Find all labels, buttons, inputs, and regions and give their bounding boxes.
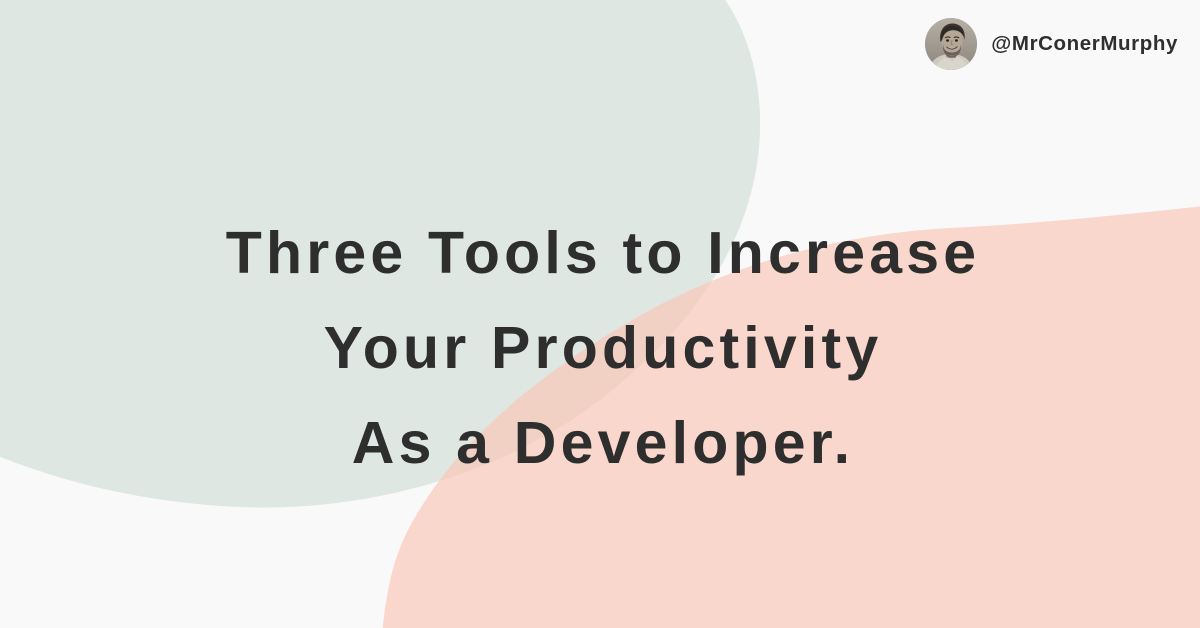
title-line-1: Three Tools to Increase	[6, 206, 1200, 301]
author-badge: @MrConerMurphy	[925, 18, 1178, 70]
page-title: Three Tools to Increase Your Productivit…	[0, 206, 1200, 491]
cover-canvas: @MrConerMurphy Three Tools to Increase Y…	[0, 0, 1200, 628]
avatar	[925, 18, 977, 70]
avatar-photo-icon	[925, 18, 977, 70]
title-line-2: Your Productivity	[6, 301, 1200, 396]
title-line-3: As a Developer.	[6, 396, 1200, 491]
author-handle: @MrConerMurphy	[991, 32, 1178, 56]
